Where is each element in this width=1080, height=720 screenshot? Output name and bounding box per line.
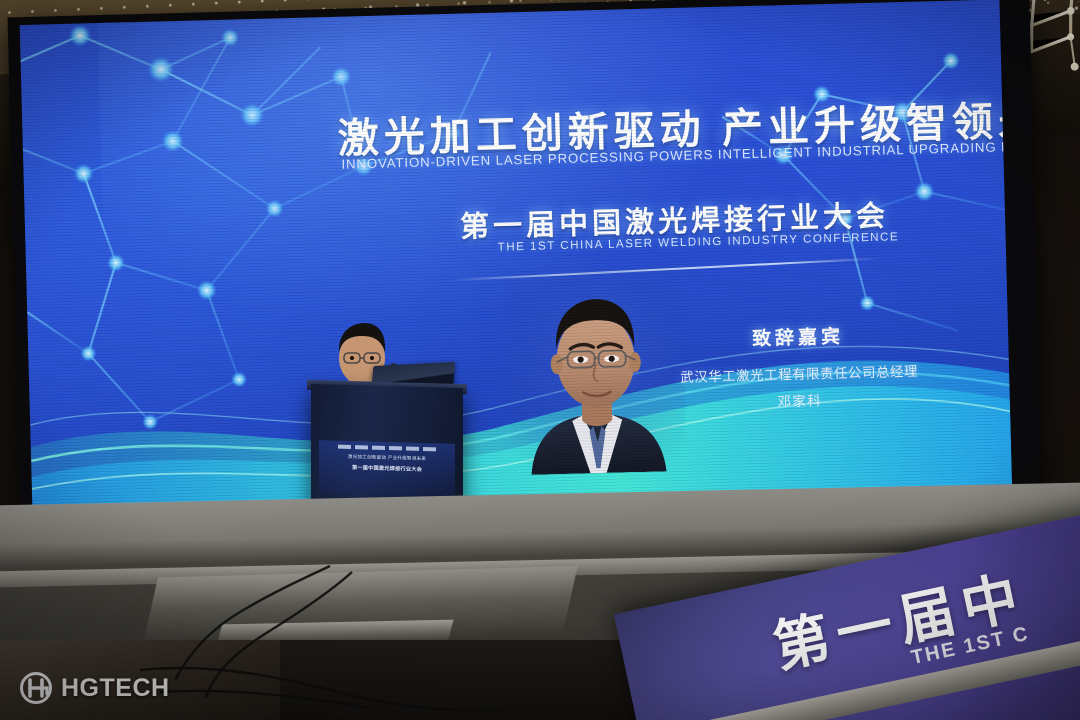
guest-role-label: 致辞嘉宾 bbox=[668, 319, 929, 353]
led-screen-display: 激光加工创新驱动 产业升级智领未来 INNOVATION-DRIVEN LASE… bbox=[20, 0, 1012, 513]
podium-graphic-panel: 激光加工创新驱动 产业升级智领未来 第一届中国激光焊接行业大会 bbox=[319, 440, 455, 498]
guest-name-label: 邓家科 bbox=[670, 386, 930, 413]
screen-text-layer: 激光加工创新驱动 产业升级智领未来 INNOVATION-DRIVEN LASE… bbox=[20, 0, 1012, 513]
brand-watermark: HGTECH bbox=[20, 672, 170, 704]
hgtech-logo-icon bbox=[20, 672, 52, 704]
podium-title-line-1: 激光加工创新驱动 产业升级智领未来 bbox=[319, 453, 455, 463]
watermark-brand-text: HGTECH bbox=[61, 674, 170, 703]
conference-photo-scene: 激光加工创新驱动 产业升级智领未来 INNOVATION-DRIVEN LASE… bbox=[0, 0, 1080, 720]
led-screen-frame: 激光加工创新驱动 产业升级智领未来 INNOVATION-DRIVEN LASE… bbox=[7, 0, 1042, 527]
podium-sponsor-logos bbox=[319, 440, 455, 452]
guest-company-label: 武汉华工激光工程有限责任公司总经理 bbox=[657, 359, 941, 386]
podium-title-line-2: 第一届中国激光焊接行业大会 bbox=[319, 463, 455, 474]
